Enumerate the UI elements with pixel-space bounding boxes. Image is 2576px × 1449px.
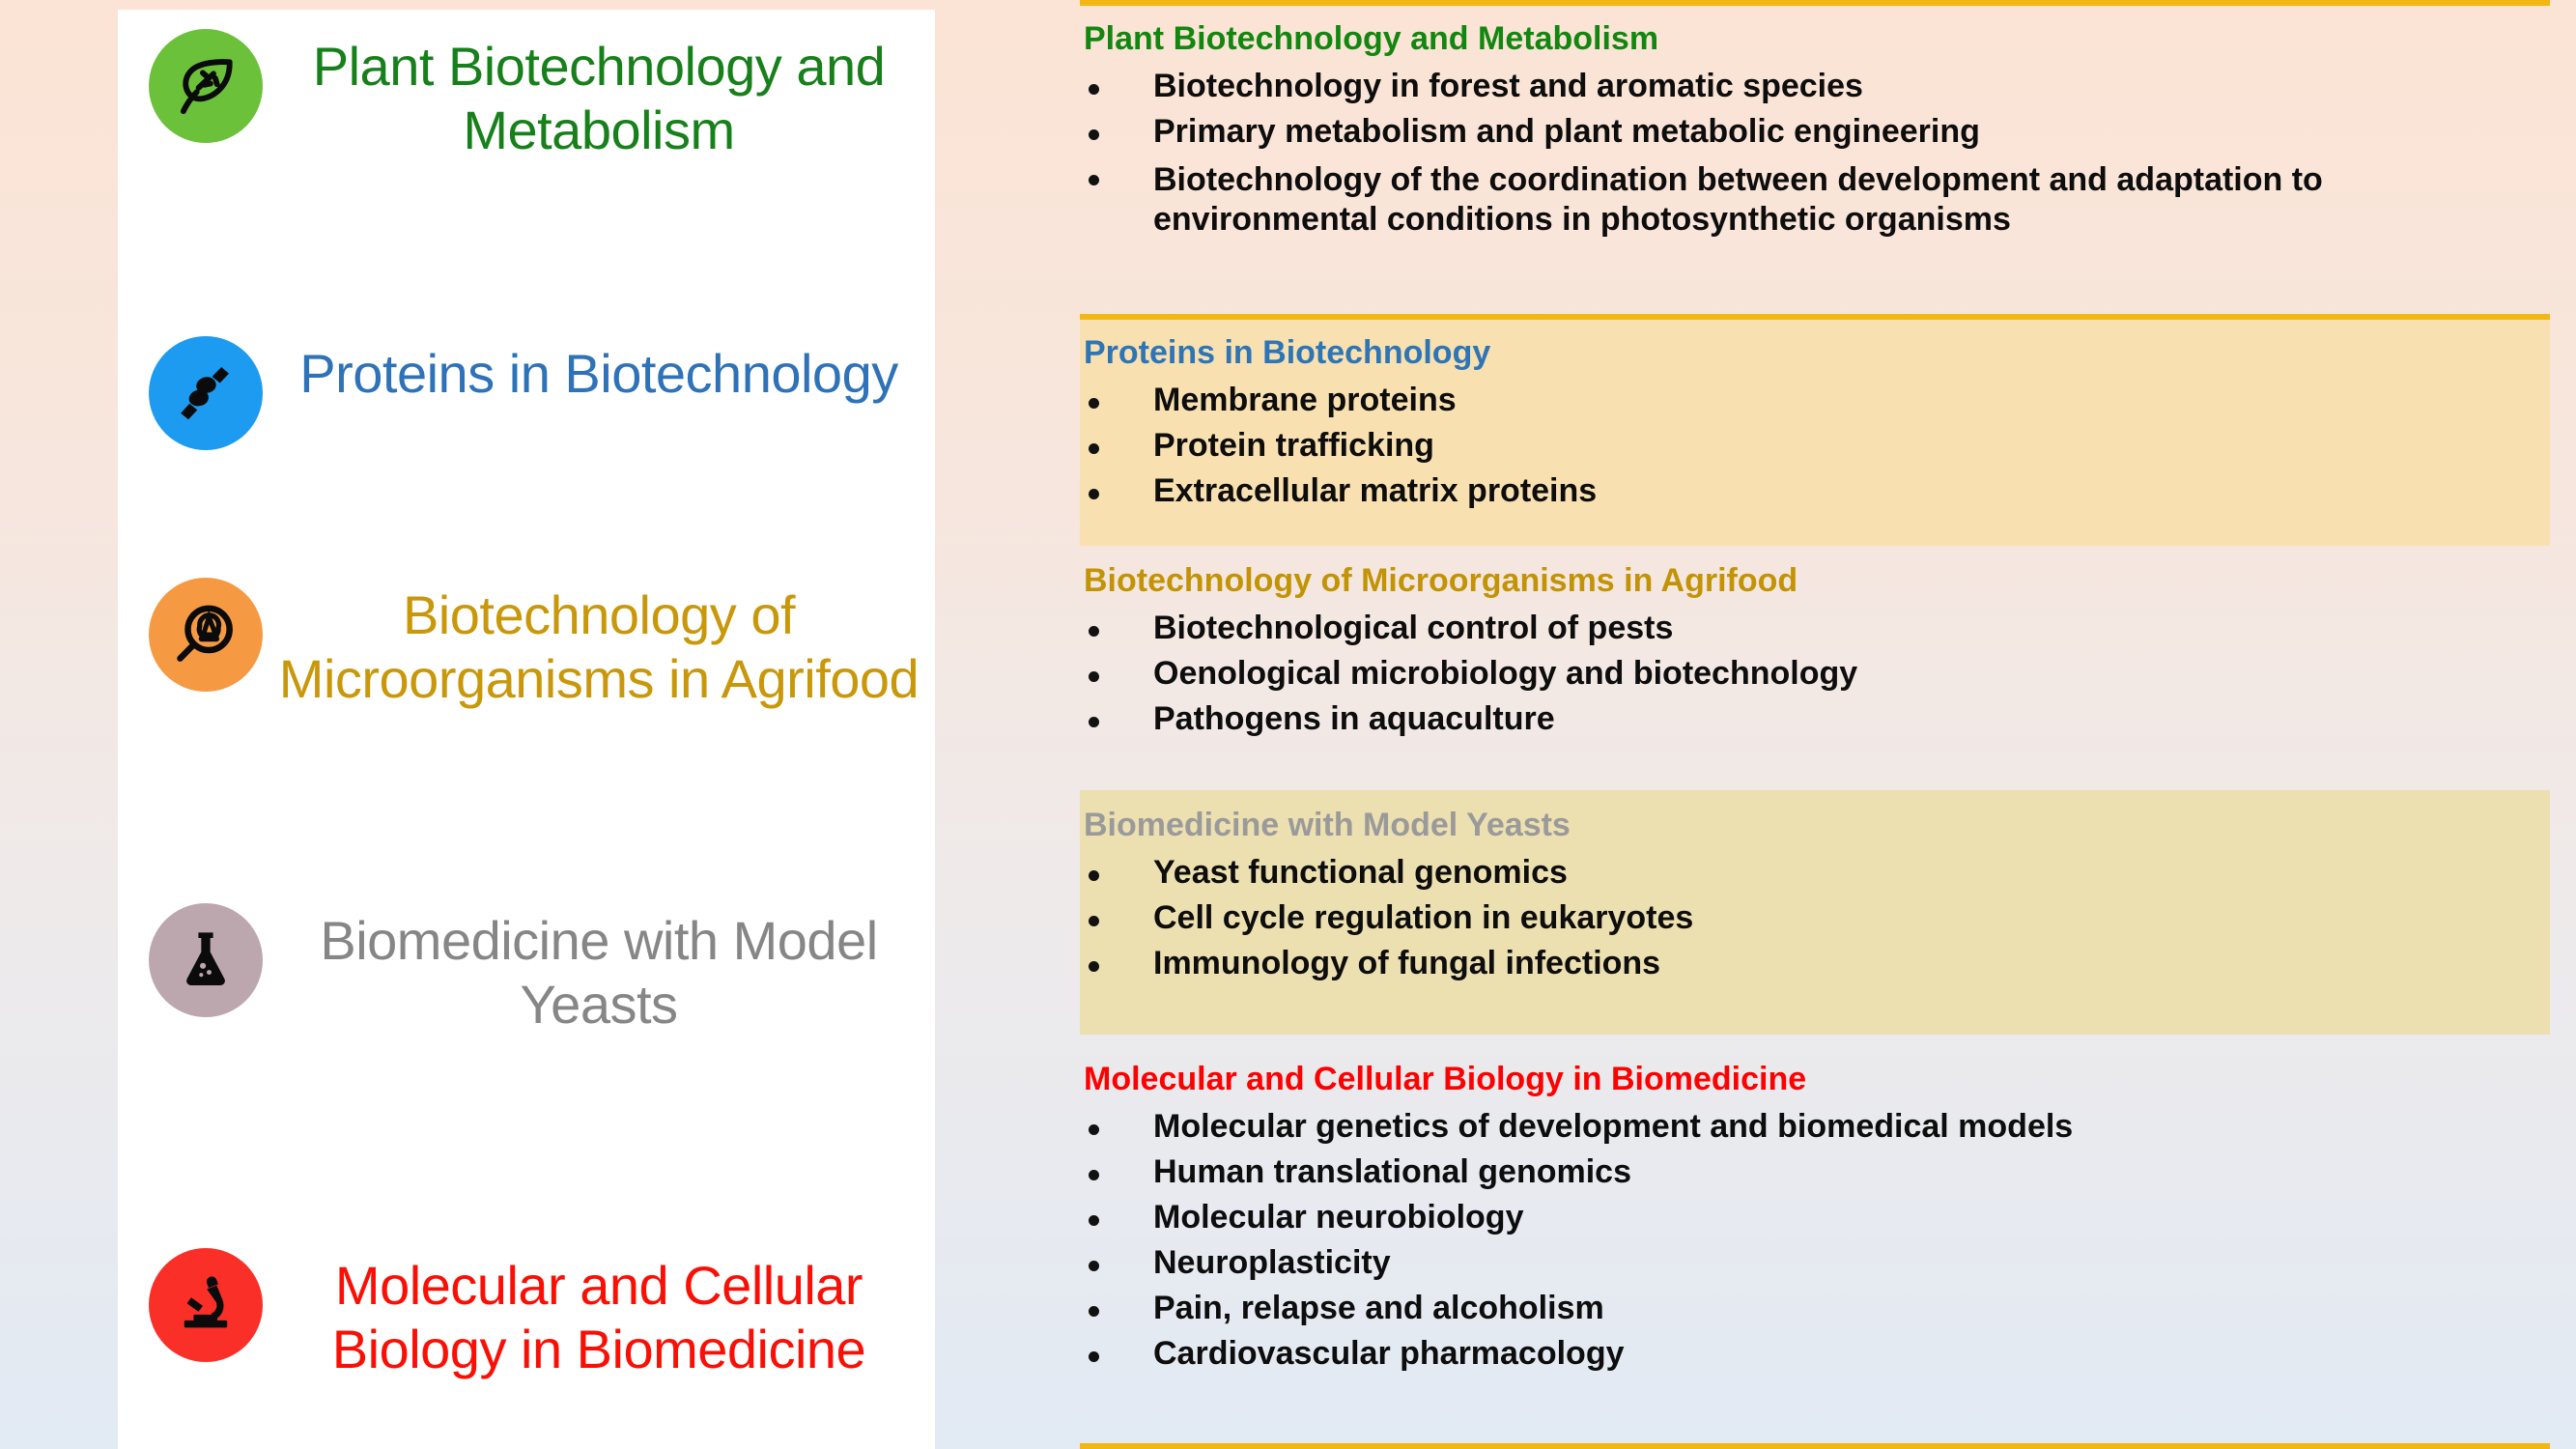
list-item: Oenological microbiology and biotechnolo… [1080, 657, 2550, 690]
section-molecular-cellular-biomedicine: Molecular and Cellular Biology in Biomed… [1080, 1035, 2550, 1443]
section-microorganisms-agrifood: Biotechnology of Microorganisms in Agrif… [1080, 546, 2550, 790]
bullet-icon [1089, 175, 1099, 185]
section-divider [1080, 546, 2550, 552]
area-label: Biomedicine with Model Yeasts [263, 909, 935, 1037]
list-item: Immunology of fungal infections [1080, 947, 2550, 980]
list-item: Yeast functional genomics [1080, 856, 2550, 889]
list-item: Cell cycle regulation in eukaryotes [1080, 901, 2550, 934]
section-item-list: Molecular genetics of development and bi… [1080, 1110, 2550, 1370]
list-item-text: Protein trafficking [1153, 429, 2550, 462]
list-item-text: Membrane proteins [1153, 384, 2550, 416]
area-row-molecular-cellular[interactable]: Molecular and Cellular Biology in Biomed… [118, 1248, 935, 1381]
list-item: Neuroplasticity [1080, 1246, 2550, 1279]
area-label: Molecular and Cellular Biology in Biomed… [263, 1254, 935, 1381]
section-divider [1080, 790, 2550, 796]
section-biomedicine-yeasts: Biomedicine with Model Yeasts Yeast func… [1080, 790, 2550, 1035]
protein-helix-icon [149, 336, 263, 450]
area-label: Plant Biotechnology and Metabolism [263, 35, 935, 162]
bullet-icon [1089, 1261, 1099, 1271]
area-label: Biotechnology of Microorganisms in Agrif… [263, 583, 935, 711]
section-title: Proteins in Biotechnology [1080, 314, 2550, 371]
section-item-list: Membrane proteins Protein trafficking Ex… [1080, 384, 2550, 507]
bullet-icon [1089, 870, 1099, 881]
bullet-icon [1089, 443, 1099, 454]
section-title: Molecular and Cellular Biology in Biomed… [1080, 1035, 2550, 1097]
area-label: Proteins in Biotechnology [263, 342, 935, 406]
bullet-icon [1089, 1351, 1099, 1362]
list-item: Extracellular matrix proteins [1080, 474, 2550, 507]
list-item: Biotechnological control of pests [1080, 611, 2550, 644]
bottom-divider [1080, 1443, 2550, 1449]
list-item: Molecular neurobiology [1080, 1201, 2550, 1234]
microscope-icon [149, 1248, 263, 1362]
list-item: Human translational genomics [1080, 1155, 2550, 1188]
list-item: Biotechnology of the coordination betwee… [1080, 160, 2550, 238]
research-areas-card: Plant Biotechnology and Metabolism Prote… [118, 10, 935, 1449]
bullet-icon [1089, 961, 1099, 972]
list-item: Molecular genetics of development and bi… [1080, 1110, 2550, 1143]
list-item-text: Neuroplasticity [1153, 1246, 2550, 1279]
list-item-text: Biotechnological control of pests [1153, 611, 2550, 644]
list-item-text: Biotechnology of the coordination betwee… [1153, 160, 2550, 238]
area-row-microorganisms[interactable]: Biotechnology of Microorganisms in Agrif… [118, 578, 935, 711]
list-item: Cardiovascular pharmacology [1080, 1337, 2550, 1370]
bullet-icon [1089, 717, 1099, 727]
bullet-icon [1089, 1215, 1099, 1226]
section-item-list: Biotechnology in forest and aromatic spe… [1080, 70, 2550, 238]
list-item-text: Immunology of fungal infections [1153, 947, 2550, 980]
section-divider [1080, 0, 2550, 6]
magnifier-microbe-icon [149, 578, 263, 692]
section-title: Biotechnology of Microorganisms in Agrif… [1080, 546, 2550, 599]
bullet-icon [1089, 626, 1099, 637]
flask-icon [149, 903, 263, 1017]
bullet-icon [1089, 1306, 1099, 1317]
bullet-icon [1089, 489, 1099, 499]
bullet-icon [1089, 1170, 1099, 1180]
list-item: Pathogens in aquaculture [1080, 702, 2550, 735]
bullet-icon [1089, 1124, 1099, 1135]
slide-canvas: Plant Biotechnology and Metabolism Prote… [0, 0, 2576, 1449]
bullet-icon [1089, 671, 1099, 682]
leaf-icon [149, 29, 263, 143]
list-item-text: Molecular genetics of development and bi… [1153, 1110, 2550, 1143]
bullet-icon [1089, 398, 1099, 409]
bullet-icon [1089, 129, 1099, 140]
list-item-text: Pathogens in aquaculture [1153, 702, 2550, 735]
section-item-list: Biotechnological control of pests Oenolo… [1080, 611, 2550, 735]
list-item-text: Human translational genomics [1153, 1155, 2550, 1188]
list-item: Pain, relapse and alcoholism [1080, 1292, 2550, 1324]
section-title: Plant Biotechnology and Metabolism [1080, 0, 2550, 57]
list-item: Membrane proteins [1080, 384, 2550, 416]
bullet-icon [1089, 916, 1099, 926]
list-item-text: Molecular neurobiology [1153, 1201, 2550, 1234]
section-item-list: Yeast functional genomics Cell cycle reg… [1080, 856, 2550, 980]
list-item: Protein trafficking [1080, 429, 2550, 462]
list-item-text: Cell cycle regulation in eukaryotes [1153, 901, 2550, 934]
list-item: Biotechnology in forest and aromatic spe… [1080, 70, 2550, 102]
section-divider [1080, 314, 2550, 320]
area-row-proteins[interactable]: Proteins in Biotechnology [118, 336, 935, 450]
list-item-text: Primary metabolism and plant metabolic e… [1153, 115, 2550, 148]
section-plant-biotechnology: Plant Biotechnology and Metabolism Biote… [1080, 0, 2550, 314]
area-row-plant-biotechnology[interactable]: Plant Biotechnology and Metabolism [118, 29, 935, 162]
list-item-text: Cardiovascular pharmacology [1153, 1337, 2550, 1370]
list-item-text: Biotechnology in forest and aromatic spe… [1153, 70, 2550, 102]
list-item: Primary metabolism and plant metabolic e… [1080, 115, 2550, 148]
area-row-biomedicine-yeasts[interactable]: Biomedicine with Model Yeasts [118, 903, 935, 1037]
list-item-text: Yeast functional genomics [1153, 856, 2550, 889]
list-item-text: Pain, relapse and alcoholism [1153, 1292, 2550, 1324]
bullet-icon [1089, 84, 1099, 95]
list-item-text: Extracellular matrix proteins [1153, 474, 2550, 507]
research-lines-panel: Plant Biotechnology and Metabolism Biote… [1080, 0, 2576, 1449]
section-title: Biomedicine with Model Yeasts [1080, 790, 2550, 843]
section-proteins-biotechnology: Proteins in Biotechnology Membrane prote… [1080, 314, 2550, 546]
section-divider [1080, 1035, 2550, 1040]
list-item-text: Oenological microbiology and biotechnolo… [1153, 657, 2550, 690]
